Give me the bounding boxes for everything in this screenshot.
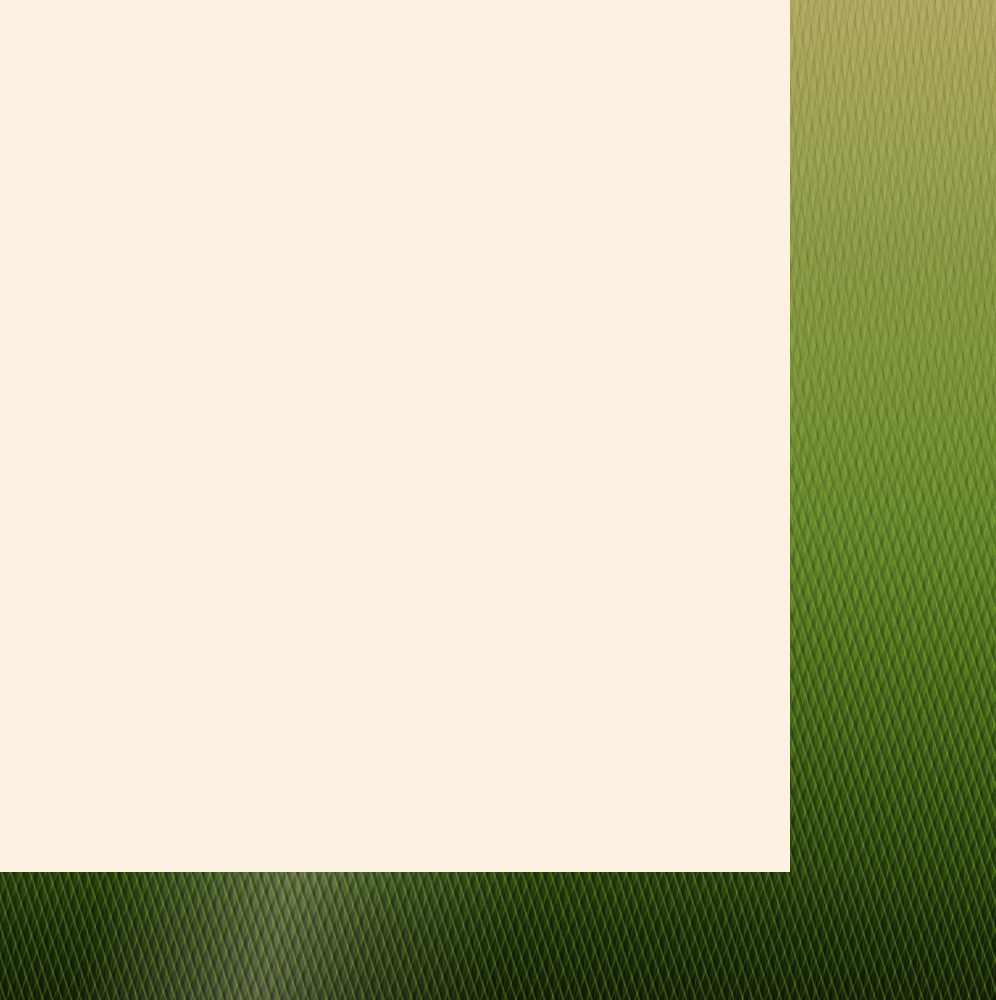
content-panel: [0, 0, 790, 872]
event-poster: Zamorano® PROGRAMA DE POSGRADO / UNIVERS…: [0, 0, 996, 1000]
